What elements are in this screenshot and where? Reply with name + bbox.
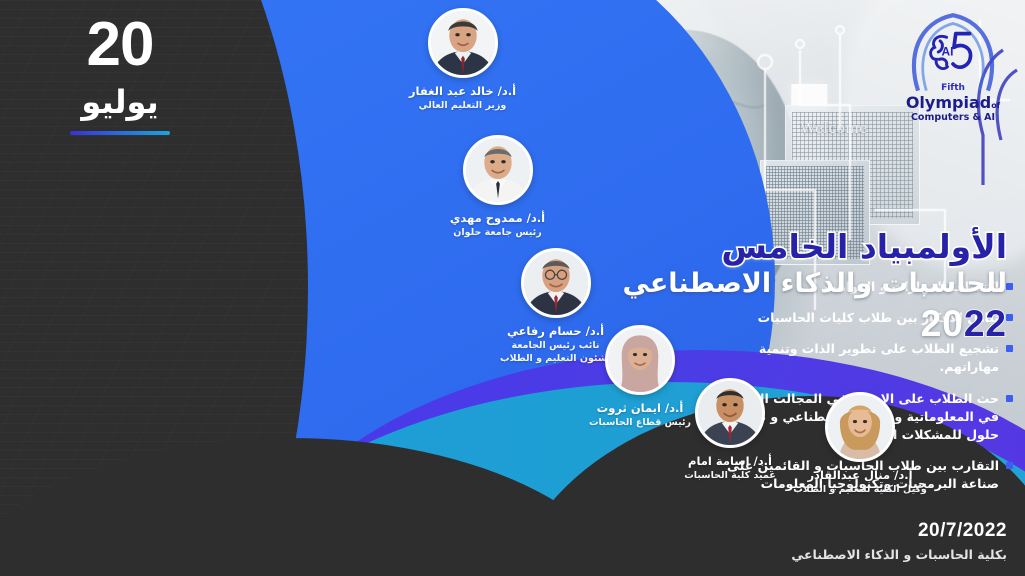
logo-text: Fifth Olympiadof Computers & AI [893, 84, 1013, 124]
event-poster: AI Welcome 28% 20 يوليو اكتشاف المهارات … [0, 0, 1025, 576]
logo-line-2-suffix: of [991, 101, 1000, 110]
speaker-name: أ.د/ منال عبدالقادر [770, 468, 950, 482]
speaker-name: أ.د/ خالد عبد الغفار [380, 84, 545, 98]
speaker-card: أ.د/ ممدوح مهدي رئيس جامعة حلوان [415, 135, 580, 240]
list-item: تشجيع الطلاب على تطوير الذات وتنمية مهار… [715, 340, 1015, 376]
speaker-name: أ.د/ ممدوح مهدي [415, 211, 580, 225]
footer-venue: بكلية الحاسبات و الذكاء الاصطناعي [791, 547, 1007, 562]
olympiad-logo: AI Fifth Olympiadof Computers & AI [893, 6, 1013, 136]
portrait-icon [466, 138, 530, 202]
portrait-icon [698, 381, 762, 445]
date-badge: 20 يوليو [0, 14, 240, 135]
title-year-first: 20 [921, 303, 964, 344]
date-underline [70, 131, 170, 135]
avatar [695, 378, 765, 448]
title-year-second: 22 [964, 303, 1007, 344]
speaker-card: أ.د/ منال عبدالقادر وكيل الكلية للتعليم … [770, 392, 950, 497]
speaker-role: وكيل الكلية للتعليم و الطلاب [770, 484, 950, 496]
speaker-role: رئيس جامعة حلوان [415, 227, 580, 239]
speaker-card: أ.د/ خالد عبد الغفار وزير التعليم العالي [380, 8, 545, 113]
avatar [428, 8, 498, 78]
svg-text:AI: AI [941, 45, 953, 59]
title-line-1: الأولمبياد الخامس [587, 228, 1007, 266]
date-month: يوليو [0, 86, 240, 118]
portrait-icon [431, 11, 495, 75]
avatar [521, 248, 591, 318]
portrait-icon [524, 251, 588, 315]
date-day: 20 [0, 14, 240, 76]
portrait-icon [828, 395, 892, 459]
logo-line-2-main: Olympiad [906, 93, 991, 112]
footer-block: 20/7/2022 بكلية الحاسبات و الذكاء الاصطن… [791, 520, 1007, 562]
logo-line-2: Olympiadof [893, 94, 1013, 112]
logo-line-3: Computers & AI [893, 112, 1013, 124]
speaker-role: وزير التعليم العالي [380, 100, 545, 112]
avatar [463, 135, 533, 205]
footer-date: 20/7/2022 [791, 520, 1007, 542]
title-line-2: للحاسبات والذكاء الاصطناعي [587, 268, 1007, 299]
avatar [825, 392, 895, 462]
